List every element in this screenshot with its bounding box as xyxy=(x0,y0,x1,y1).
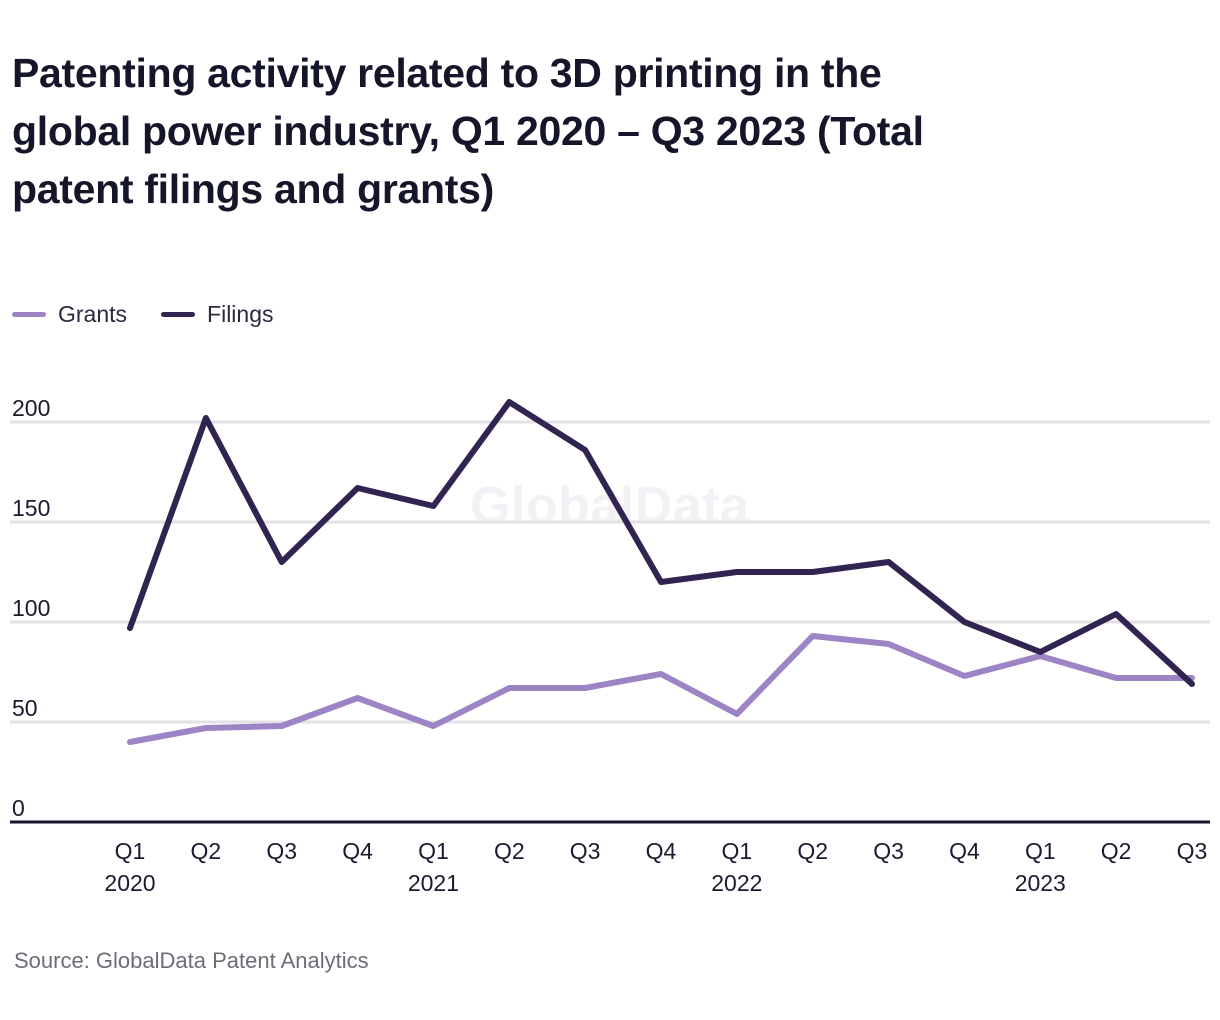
y-tick-label: 200 xyxy=(12,395,50,422)
x-tick-label-quarter: Q1 xyxy=(95,838,165,865)
data-series xyxy=(130,402,1192,742)
source-note: Source: GlobalData Patent Analytics xyxy=(14,948,369,974)
x-tick-label-quarter: Q2 xyxy=(1081,838,1151,865)
x-tick-label-quarter: Q4 xyxy=(626,838,696,865)
x-tick-label-quarter: Q2 xyxy=(474,838,544,865)
x-tick-label-quarter: Q3 xyxy=(550,838,620,865)
x-tick-label-quarter: Q4 xyxy=(323,838,393,865)
x-tick-label-year: 2023 xyxy=(995,870,1085,897)
chart-card: Patenting activity related to 3D printin… xyxy=(0,0,1220,1020)
chart-svg xyxy=(0,0,1220,1020)
x-tick-label-quarter: Q2 xyxy=(778,838,848,865)
x-tick-label-quarter: Q3 xyxy=(1157,838,1220,865)
x-tick-label-quarter: Q1 xyxy=(702,838,772,865)
series-line-filings[interactable] xyxy=(130,402,1192,684)
x-tick-label-year: 2022 xyxy=(692,870,782,897)
y-tick-label: 150 xyxy=(12,495,50,522)
x-tick-label-quarter: Q2 xyxy=(171,838,241,865)
x-tick-label-quarter: Q1 xyxy=(398,838,468,865)
y-tick-label: 0 xyxy=(12,795,25,822)
x-tick-label-quarter: Q4 xyxy=(929,838,999,865)
x-tick-label-quarter: Q3 xyxy=(247,838,317,865)
y-tick-label: 100 xyxy=(12,595,50,622)
x-tick-label-quarter: Q1 xyxy=(1005,838,1075,865)
x-tick-label-year: 2021 xyxy=(388,870,478,897)
x-tick-label-year: 2020 xyxy=(85,870,175,897)
plot-area xyxy=(0,0,1220,1020)
y-tick-label: 50 xyxy=(12,695,38,722)
x-tick-label-quarter: Q3 xyxy=(854,838,924,865)
